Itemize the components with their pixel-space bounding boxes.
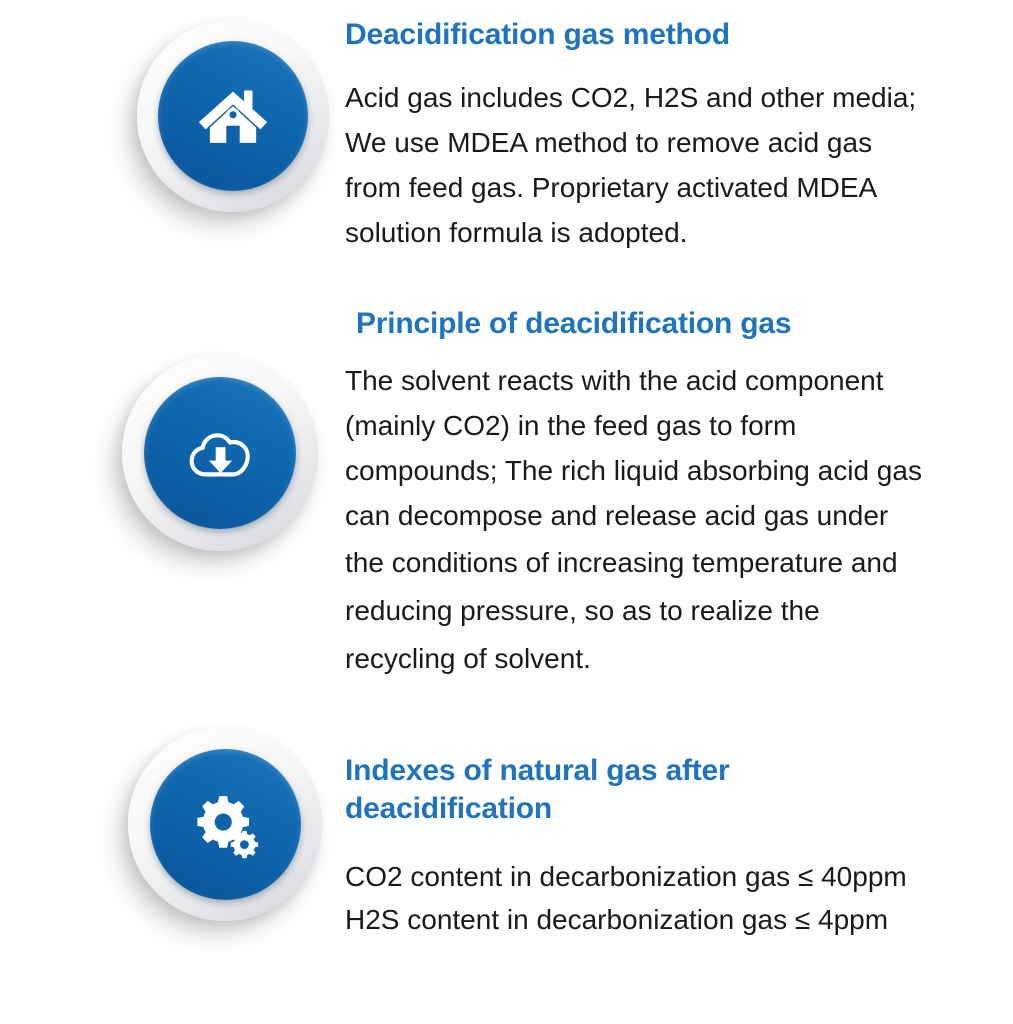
house-icon bbox=[194, 77, 272, 155]
section-heading: Indexes of natural gas after deacidifica… bbox=[345, 752, 1005, 829]
infographic-page: Deacidification gas method Acid gas incl… bbox=[0, 0, 1013, 1024]
badge-disc bbox=[144, 377, 296, 529]
icon-badge-principle-of-deacidification-gas[interactable] bbox=[122, 355, 318, 551]
section-body-continued: the conditions of increasing temperature… bbox=[345, 539, 1005, 683]
section-principle-of-deacidification-gas: Principle of deacidification gas The sol… bbox=[345, 305, 1005, 683]
section-body: CO2 content in decarbonization gas ≤ 40p… bbox=[345, 855, 1005, 942]
section-body: The solvent reacts with the acid compone… bbox=[345, 359, 1005, 538]
section-indexes-of-natural-gas: Indexes of natural gas after deacidifica… bbox=[345, 752, 1005, 942]
icon-badge-indexes-of-natural-gas[interactable] bbox=[128, 727, 322, 921]
gears-icon bbox=[187, 786, 263, 862]
section-heading: Principle of deacidification gas bbox=[345, 305, 1005, 343]
badge-disc bbox=[150, 749, 301, 900]
section-heading: Deacidification gas method bbox=[345, 16, 995, 54]
section-deacidification-gas-method: Deacidification gas method Acid gas incl… bbox=[345, 16, 995, 256]
section-body: Acid gas includes CO2, H2S and other med… bbox=[345, 76, 995, 255]
icon-badge-deacidification-gas-method[interactable] bbox=[137, 20, 329, 212]
badge-disc bbox=[158, 41, 308, 191]
cloud-download-icon bbox=[183, 416, 257, 490]
